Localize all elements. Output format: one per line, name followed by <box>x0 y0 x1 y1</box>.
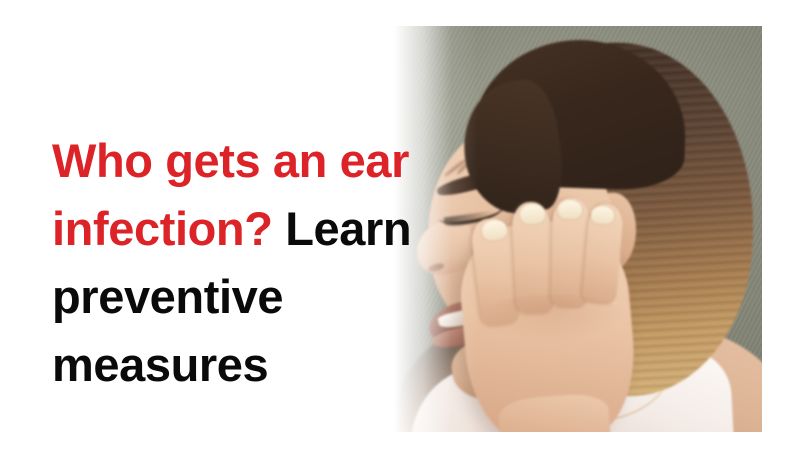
fingernail <box>558 200 582 219</box>
knuckle-shading <box>472 294 632 352</box>
fingernail <box>590 205 614 225</box>
page-title: Who gets an ear infection? Learn prevent… <box>52 127 452 399</box>
ear-infection-banner: Who gets an ear infection? Learn prevent… <box>0 0 789 463</box>
fingernail <box>519 203 545 224</box>
